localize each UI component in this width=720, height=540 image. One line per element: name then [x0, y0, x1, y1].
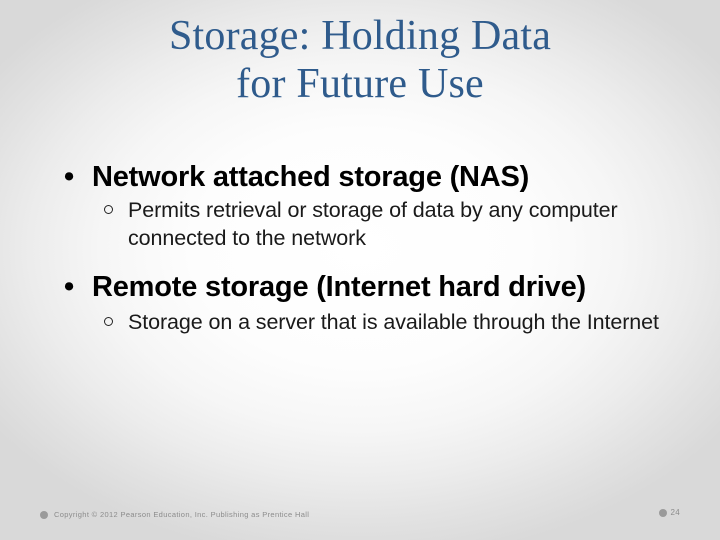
bullet-item-level1-label: Network attached storage (NAS) — [92, 161, 529, 193]
bullet-dot-icon: • — [64, 160, 78, 194]
page-number-group: 24 — [659, 508, 681, 517]
page-title-line-2: for Future Use — [40, 60, 680, 108]
hollow-circle-bullet-icon — [104, 205, 113, 214]
bullet-item-level2-label: Storage on a server that is available th… — [128, 310, 659, 334]
footer-dot-icon — [40, 511, 48, 519]
slide-canvas: Storage: Holding Data for Future Use • N… — [0, 0, 720, 540]
hollow-circle-bullet-icon — [104, 317, 113, 326]
copyright-notice: Copyright © 2012 Pearson Education, Inc.… — [40, 510, 309, 519]
bullet-item-level1: • Remote storage (Internet hard drive) — [46, 270, 694, 304]
bullet-item-level1-label: Remote storage (Internet hard drive) — [92, 271, 586, 303]
bullet-group-remote-storage: • Remote storage (Internet hard drive) S… — [46, 270, 694, 336]
page-title: Storage: Holding Data for Future Use — [40, 12, 680, 108]
slide-footer: Copyright © 2012 Pearson Education, Inc.… — [40, 508, 680, 528]
slide-body: • Network attached storage (NAS) Permits… — [46, 160, 694, 340]
page-title-line-1: Storage: Holding Data — [40, 12, 680, 60]
bullet-group-network-attached-storage: • Network attached storage (NAS) Permits… — [46, 160, 694, 252]
copyright-text: Copyright © 2012 Pearson Education, Inc.… — [54, 510, 309, 519]
bullet-item-level1: • Network attached storage (NAS) — [46, 160, 694, 194]
bullet-item-level2: Storage on a server that is available th… — [46, 308, 694, 336]
footer-dot-icon — [659, 509, 667, 517]
bullet-item-level2-label: Permits retrieval or storage of data by … — [128, 198, 618, 250]
bullet-dot-icon: • — [64, 270, 78, 304]
bullet-item-level2: Permits retrieval or storage of data by … — [46, 196, 694, 252]
page-number: 24 — [671, 508, 681, 517]
